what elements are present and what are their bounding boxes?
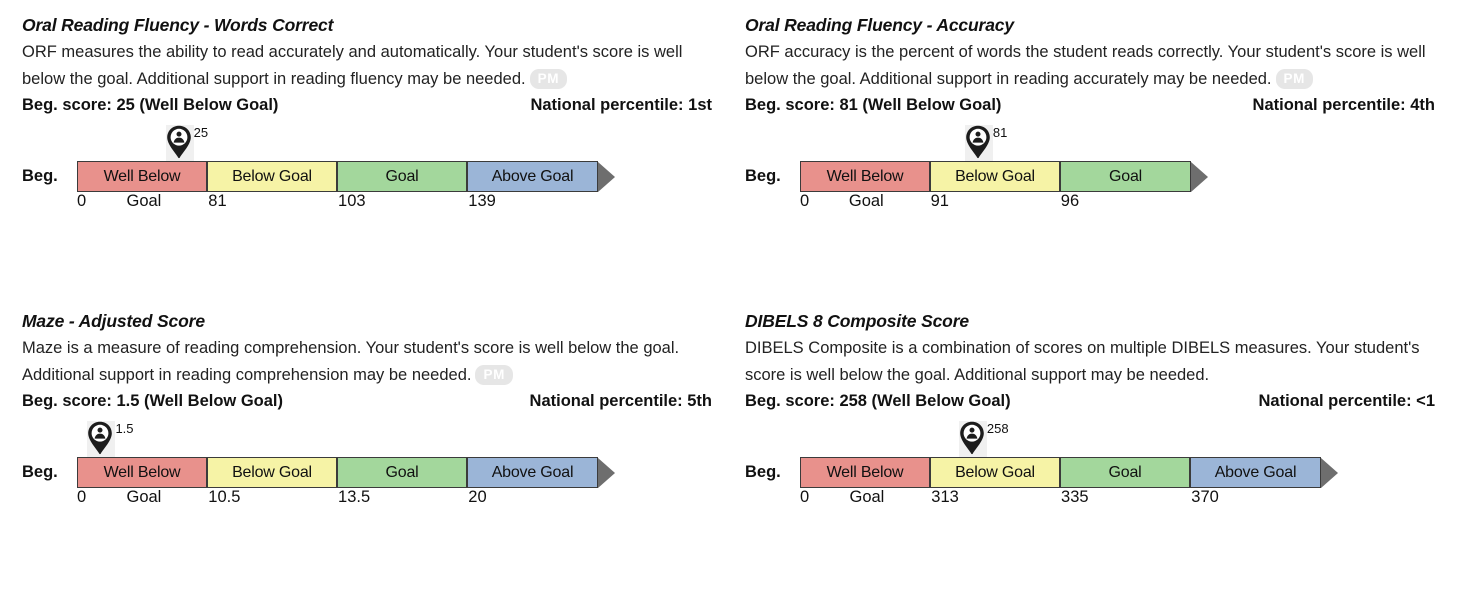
tick-label: 0 xyxy=(77,488,86,507)
measure-panel-maze-adjusted-score: Maze - Adjusted ScoreMaze is a measure o… xyxy=(22,310,722,507)
tick-label: 81 xyxy=(208,192,226,211)
benchmark-score-label: Beg. score: 81 (Well Below Goal) xyxy=(745,96,1001,115)
student-pin-icon xyxy=(959,421,985,455)
tick-label: 13.5 xyxy=(338,488,370,507)
score-summary-row: Beg. score: 25 (Well Below Goal)National… xyxy=(22,96,712,115)
measure-title: DIBELS 8 Composite Score xyxy=(745,310,1445,333)
tick-label: 313 xyxy=(931,488,959,507)
measure-description: DIBELS Composite is a combination of sco… xyxy=(745,335,1435,388)
tick-label: Goal xyxy=(849,488,884,507)
tick-label: 96 xyxy=(1061,192,1079,211)
student-score-marker[interactable]: 25 xyxy=(179,125,192,163)
measure-description: Maze is a measure of reading comprehensi… xyxy=(22,335,712,388)
bar-segment-well-below: Well Below xyxy=(800,161,930,192)
measure-description: ORF accuracy is the percent of words the… xyxy=(745,39,1435,92)
marker-value-label: 258 xyxy=(987,421,1009,436)
marker-value-label: 1.5 xyxy=(115,421,133,436)
tick-label: Goal xyxy=(126,488,161,507)
score-summary-row: Beg. score: 81 (Well Below Goal)National… xyxy=(745,96,1435,115)
benchmark-gauge: 258Beg.Well BelowBelow GoalGoalAbove Goa… xyxy=(745,421,1445,507)
bar-segment-below-goal: Below Goal xyxy=(930,457,1060,488)
period-label: Beg. xyxy=(22,161,77,192)
measure-title: Maze - Adjusted Score xyxy=(22,310,722,333)
bar-segment-above-goal: Above Goal xyxy=(1190,457,1321,488)
student-pin-icon xyxy=(965,125,991,159)
tick-label: 139 xyxy=(468,192,496,211)
tick-label: 0 xyxy=(77,192,86,211)
goal-range-bar: Well BelowBelow GoalGoal xyxy=(800,161,1208,192)
bar-segment-goal: Goal xyxy=(1060,457,1190,488)
tick-label: 370 xyxy=(1191,488,1219,507)
tick-label: 335 xyxy=(1061,488,1089,507)
bar-segment-goal: Goal xyxy=(337,457,467,488)
gauge-bar-row: Beg.Well BelowBelow GoalGoalAbove Goal xyxy=(22,457,615,488)
score-summary-row: Beg. score: 1.5 (Well Below Goal)Nationa… xyxy=(22,392,712,411)
period-label: Beg. xyxy=(745,161,800,192)
national-percentile-label: National percentile: 4th xyxy=(1253,96,1435,115)
student-pin-icon xyxy=(166,125,192,159)
measure-panel-orf-words-correct: Oral Reading Fluency - Words CorrectORF … xyxy=(22,14,722,211)
gauge-bar-row: Beg.Well BelowBelow GoalGoalAbove Goal xyxy=(745,457,1338,488)
tick-label: 103 xyxy=(338,192,366,211)
tick-label: Goal xyxy=(849,192,884,211)
national-percentile-label: National percentile: <1 xyxy=(1258,392,1435,411)
student-score-marker[interactable]: 1.5 xyxy=(100,421,113,459)
bar-segment-below-goal: Below Goal xyxy=(207,457,337,488)
measure-panel-orf-accuracy: Oral Reading Fluency - AccuracyORF accur… xyxy=(745,14,1445,211)
measure-description: ORF measures the ability to read accurat… xyxy=(22,39,712,92)
benchmark-gauge-grid: Oral Reading Fluency - Words CorrectORF … xyxy=(0,0,1466,594)
bar-segment-goal: Goal xyxy=(337,161,467,192)
tick-label: 91 xyxy=(931,192,949,211)
pm-badge: PM xyxy=(475,365,512,385)
period-label: Beg. xyxy=(22,457,77,488)
bar-arrow-tip-icon xyxy=(598,162,615,192)
gauge-bar-row: Beg.Well BelowBelow GoalGoalAbove Goal xyxy=(22,161,615,192)
tick-label: 20 xyxy=(468,488,486,507)
bar-segment-above-goal: Above Goal xyxy=(467,161,598,192)
bar-segment-goal: Goal xyxy=(1060,161,1191,192)
tick-label: 0 xyxy=(800,488,809,507)
measure-panel-dibels-8-composite-score: DIBELS 8 Composite ScoreDIBELS Composite… xyxy=(745,310,1445,507)
tick-label: 10.5 xyxy=(208,488,240,507)
student-score-marker[interactable]: 81 xyxy=(978,125,991,163)
gauge-bar-row: Beg.Well BelowBelow GoalGoal xyxy=(745,161,1208,192)
period-label: Beg. xyxy=(745,457,800,488)
bar-segment-well-below: Well Below xyxy=(800,457,930,488)
national-percentile-label: National percentile: 5th xyxy=(530,392,712,411)
score-summary-row: Beg. score: 258 (Well Below Goal)Nationa… xyxy=(745,392,1435,411)
measure-title: Oral Reading Fluency - Accuracy xyxy=(745,14,1445,37)
bar-segment-well-below: Well Below xyxy=(77,457,207,488)
benchmark-score-label: Beg. score: 25 (Well Below Goal) xyxy=(22,96,278,115)
goal-range-bar: Well BelowBelow GoalGoalAbove Goal xyxy=(77,161,615,192)
pm-badge: PM xyxy=(1276,69,1313,89)
benchmark-gauge: 81Beg.Well BelowBelow GoalGoal0Goal9196 xyxy=(745,125,1445,211)
tick-label: 0 xyxy=(800,192,809,211)
bar-arrow-tip-icon xyxy=(1321,458,1338,488)
benchmark-score-label: Beg. score: 258 (Well Below Goal) xyxy=(745,392,1011,411)
bar-segment-below-goal: Below Goal xyxy=(207,161,337,192)
national-percentile-label: National percentile: 1st xyxy=(530,96,712,115)
benchmark-score-label: Beg. score: 1.5 (Well Below Goal) xyxy=(22,392,283,411)
marker-value-label: 81 xyxy=(993,125,1007,140)
benchmark-gauge: 25Beg.Well BelowBelow GoalGoalAbove Goal… xyxy=(22,125,722,211)
student-pin-icon xyxy=(87,421,113,455)
benchmark-gauge: 1.5Beg.Well BelowBelow GoalGoalAbove Goa… xyxy=(22,421,722,507)
bar-segment-well-below: Well Below xyxy=(77,161,207,192)
pm-badge: PM xyxy=(530,69,567,89)
goal-range-bar: Well BelowBelow GoalGoalAbove Goal xyxy=(800,457,1338,488)
student-score-marker[interactable]: 258 xyxy=(972,421,985,459)
tick-label: Goal xyxy=(126,192,161,211)
bar-segment-below-goal: Below Goal xyxy=(930,161,1060,192)
bar-arrow-tip-icon xyxy=(598,458,615,488)
goal-range-bar: Well BelowBelow GoalGoalAbove Goal xyxy=(77,457,615,488)
bar-arrow-tip-icon xyxy=(1191,162,1208,192)
measure-title: Oral Reading Fluency - Words Correct xyxy=(22,14,722,37)
bar-segment-above-goal: Above Goal xyxy=(467,457,598,488)
marker-value-label: 25 xyxy=(194,125,208,140)
